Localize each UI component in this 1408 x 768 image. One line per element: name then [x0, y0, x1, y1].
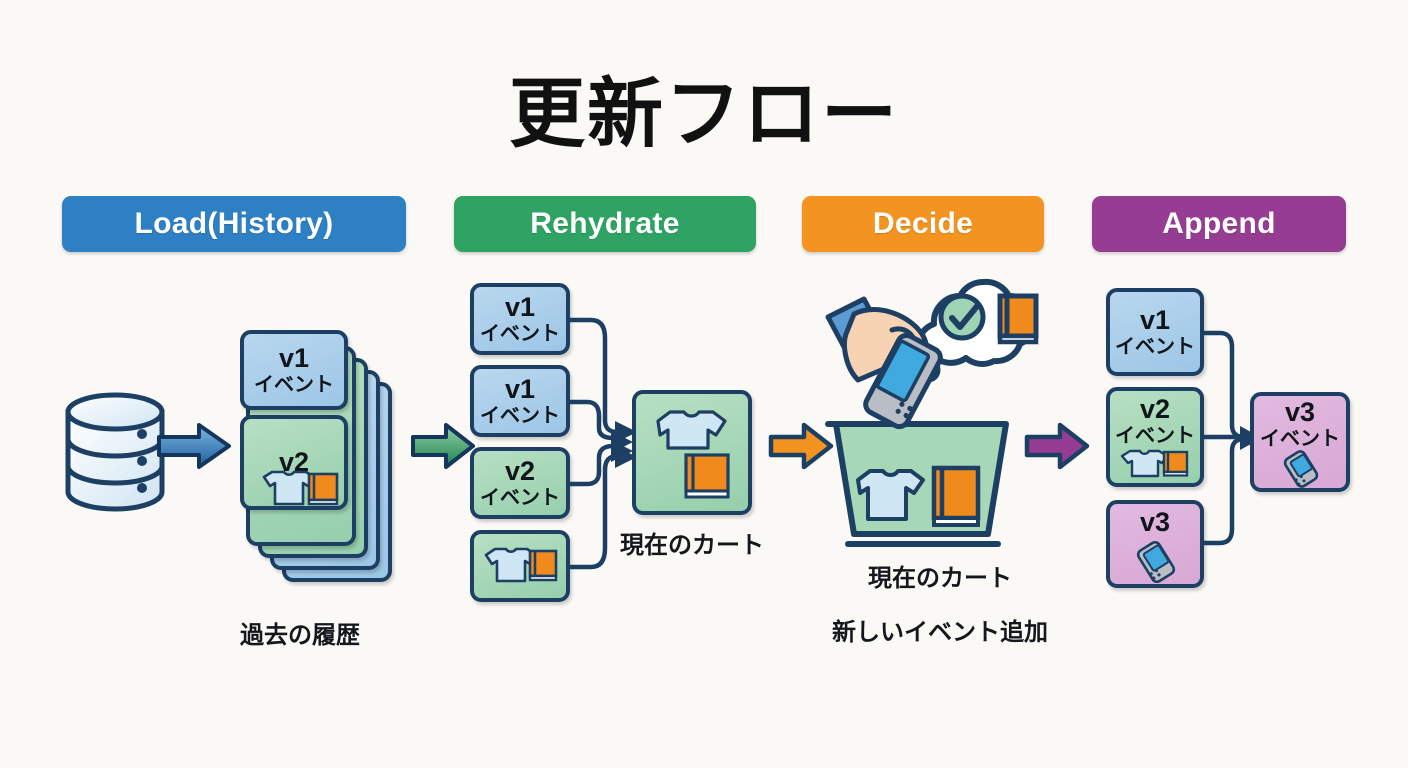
caption-past-history: 過去の履歴: [185, 615, 415, 650]
current-cart-card[interactable]: [632, 390, 752, 515]
arrow-decide-to-append: [1024, 420, 1090, 472]
append-event-card-3-version: v3: [1140, 509, 1170, 536]
rehydrate-event-card-3-version: v2: [505, 458, 535, 485]
history-card-v2-icons: [254, 469, 342, 509]
append-event-card-3-icons: [1132, 540, 1178, 580]
rehydrate-event-card-2[interactable]: v1 イベント: [470, 365, 570, 437]
append-result-card-v3-event: イベント: [1260, 428, 1340, 449]
diagram-canvas: 更新フロー Load(History) Rehydrate Decide App…: [0, 0, 1408, 768]
phase-pill-append[interactable]: Append: [1092, 196, 1346, 252]
basket-book-icon: [934, 468, 978, 525]
append-result-card-v3-icons: [1277, 452, 1323, 486]
caption-current-cart-rehydrate: 現在のカート: [602, 525, 782, 560]
append-event-card-2-version: v2: [1140, 396, 1170, 423]
history-card-v2[interactable]: v2: [240, 415, 348, 510]
arrow-history-to-events: [410, 420, 476, 472]
append-event-card-2-icons: [1116, 448, 1194, 478]
rehydrate-event-card-2-version: v1: [505, 376, 535, 403]
phase-pill-decide[interactable]: Decide: [802, 196, 1044, 252]
database-icon: [60, 392, 170, 512]
rehydrate-event-card-3-event: イベント: [480, 487, 560, 508]
append-result-card-v3[interactable]: v3 イベント: [1250, 392, 1350, 492]
caption-new-event-append: 新しいイベント追加: [790, 612, 1090, 647]
history-card-v1-version: v1: [279, 345, 309, 372]
append-result-card-v3-version: v3: [1285, 399, 1315, 426]
caption-current-cart-decide: 現在のカート: [845, 558, 1035, 593]
history-card-v1-event: イベント: [254, 374, 334, 395]
check-circle-icon: [941, 296, 983, 338]
append-event-card-2-event: イベント: [1115, 425, 1195, 446]
phase-pill-rehydrate[interactable]: Rehydrate: [454, 196, 756, 252]
rehydrate-event-card-1-version: v1: [505, 294, 535, 321]
rehydrate-event-card-2-event: イベント: [480, 405, 560, 426]
append-event-card-1-version: v1: [1140, 307, 1170, 334]
current-cart-card-icons: [642, 403, 742, 503]
append-event-card-2[interactable]: v2 イベント: [1106, 387, 1204, 487]
append-event-card-3[interactable]: v3: [1106, 500, 1204, 588]
rehydrate-event-card-4[interactable]: [470, 530, 570, 602]
rehydrate-event-card-1-event: イベント: [480, 323, 560, 344]
phase-pill-rehydrate-label: Rehydrate: [530, 207, 679, 241]
arrow-db-to-history: [155, 420, 233, 472]
phase-pill-load-label: Load(History): [135, 207, 334, 241]
rehydrate-event-card-3[interactable]: v2 イベント: [470, 447, 570, 519]
page-title: 更新フロー: [0, 52, 1408, 162]
append-event-card-1[interactable]: v1 イベント: [1106, 288, 1204, 376]
bubble-book-icon: [1000, 296, 1036, 342]
phase-pill-append-label: Append: [1162, 207, 1275, 241]
rehydrate-event-card-1[interactable]: v1 イベント: [470, 283, 570, 355]
rehydrate-event-card-4-icons: [478, 545, 562, 587]
phase-pill-decide-label: Decide: [873, 207, 973, 241]
history-card-v1[interactable]: v1 イベント: [240, 330, 348, 410]
append-event-card-1-event: イベント: [1115, 336, 1195, 357]
phase-pill-load[interactable]: Load(History): [62, 196, 406, 252]
